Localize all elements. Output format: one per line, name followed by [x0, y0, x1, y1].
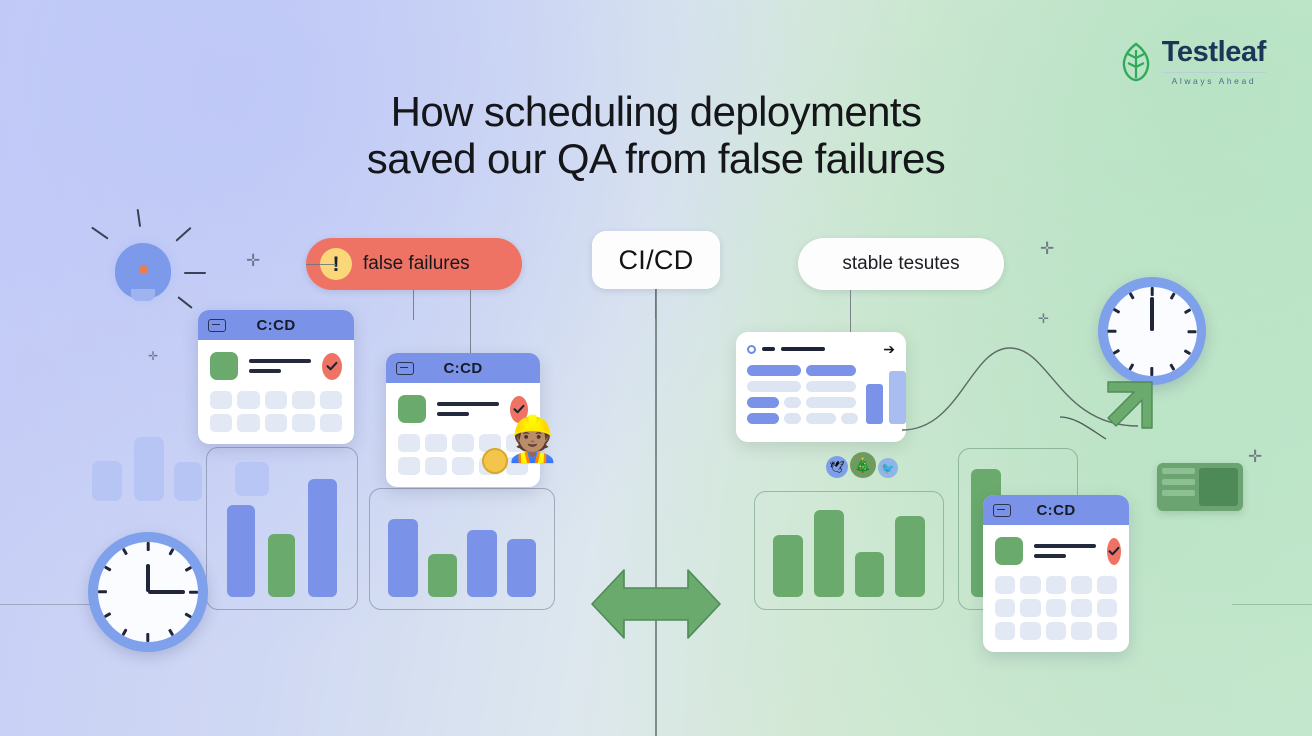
sparkle-icon: ✛: [1248, 448, 1262, 465]
brand-logo: Testleaf Always Ahead: [1119, 38, 1266, 86]
hour-hand: [146, 564, 150, 592]
clock-left: [88, 532, 208, 652]
status-square-icon: [995, 537, 1023, 565]
label-text: stable tesutes: [842, 253, 959, 275]
leader-line-false: [413, 290, 414, 320]
baseline-right: [1232, 604, 1312, 605]
bar-loose-2: [134, 437, 164, 501]
card-titlebar: C:CD: [198, 310, 354, 340]
window-chip-icon: [993, 504, 1011, 517]
sparkle-icon: ✛: [1038, 312, 1049, 325]
leader-line-cicd: [655, 289, 656, 319]
label-stable-tests[interactable]: stable tesutes: [798, 238, 1004, 290]
leader-line-false-2: [470, 290, 471, 355]
bar: [507, 539, 536, 597]
clock-right: [1098, 277, 1206, 385]
check-circle-icon: [322, 353, 342, 380]
sparkle-icon: ✛: [246, 252, 260, 269]
bar: [855, 552, 884, 597]
cicd-card[interactable]: C:CD: [983, 495, 1129, 652]
bar: [467, 530, 497, 597]
sparkle-icon: ✛: [1040, 240, 1054, 257]
window-chip-icon: [208, 319, 226, 332]
card-grid: [995, 576, 1117, 640]
bulb-ray: [184, 272, 206, 274]
card-titlebar: C:CD: [983, 495, 1129, 525]
dashboard-card[interactable]: ➔: [736, 332, 906, 442]
clock-face: [1108, 287, 1197, 376]
bar: [227, 505, 255, 597]
bird-badge-icon: 🕊: [826, 456, 848, 478]
bar-loose-3: [174, 462, 202, 501]
card-titlebar: C:CD: [386, 353, 540, 383]
mascot-icon: 👷🏽: [505, 418, 567, 480]
status-dot-icon: [747, 345, 756, 354]
bird-badge-icon: 🐦: [878, 458, 898, 478]
tree-badge-icon: 🎄: [850, 452, 876, 478]
status-square-icon: [210, 352, 238, 380]
bar-loose-1: [92, 461, 122, 501]
left-right-arrow-icon: [588, 558, 724, 650]
minute-hand: [1150, 297, 1153, 331]
card-grid: [210, 391, 342, 432]
arrow-right-icon: ➔: [883, 342, 895, 356]
label-text: false failures: [363, 253, 470, 275]
bar: [814, 510, 844, 597]
brand-tagline: Always Ahead: [1162, 72, 1266, 86]
brand-name: Testleaf: [1162, 38, 1266, 67]
label-text: CI/CD: [619, 245, 694, 276]
title-line-1: How scheduling deployments: [0, 88, 1312, 135]
chart-before-2: [369, 488, 555, 610]
label-false-failures[interactable]: ! false failures: [306, 238, 522, 290]
title-line-2: saved our QA from false failures: [0, 135, 1312, 182]
status-square-icon: [398, 395, 426, 423]
sparkle-icon: ✛: [148, 350, 158, 362]
label-cicd[interactable]: CI/CD: [592, 231, 720, 289]
bulb-ray: [91, 227, 108, 240]
bar: [308, 479, 337, 597]
window-chip-icon: [396, 362, 414, 375]
infographic-canvas: Testleaf Always Ahead How scheduling dep…: [0, 0, 1312, 736]
cicd-card[interactable]: C:CD: [198, 310, 354, 444]
bar: [773, 535, 803, 597]
chart-before-1: [206, 447, 358, 610]
leader-line-stable: [850, 290, 851, 335]
bar: [895, 516, 925, 597]
emoji-badges: 🕊 🎄 🐦: [826, 452, 898, 478]
bar: [388, 519, 418, 597]
minute-hand: [148, 590, 185, 594]
leaf-icon: [1119, 42, 1153, 82]
lightbulb-icon: [115, 243, 171, 299]
arrow-tail-curve: [1060, 395, 1110, 445]
bulb-ray: [137, 209, 141, 227]
chart-placeholder-square: [235, 462, 269, 496]
clock-face: [98, 542, 198, 642]
leader-line-false-left: [306, 264, 336, 265]
bulb-ray: [177, 296, 192, 308]
bar: [866, 384, 883, 424]
arrow-up-right-icon: [1102, 378, 1160, 440]
page-title: How scheduling deployments saved our QA …: [0, 88, 1312, 183]
bar: [268, 534, 295, 597]
bar: [428, 554, 457, 597]
check-circle-icon: [1107, 538, 1121, 565]
bulb-ray: [175, 227, 191, 242]
table-widget-icon: [1157, 463, 1243, 511]
